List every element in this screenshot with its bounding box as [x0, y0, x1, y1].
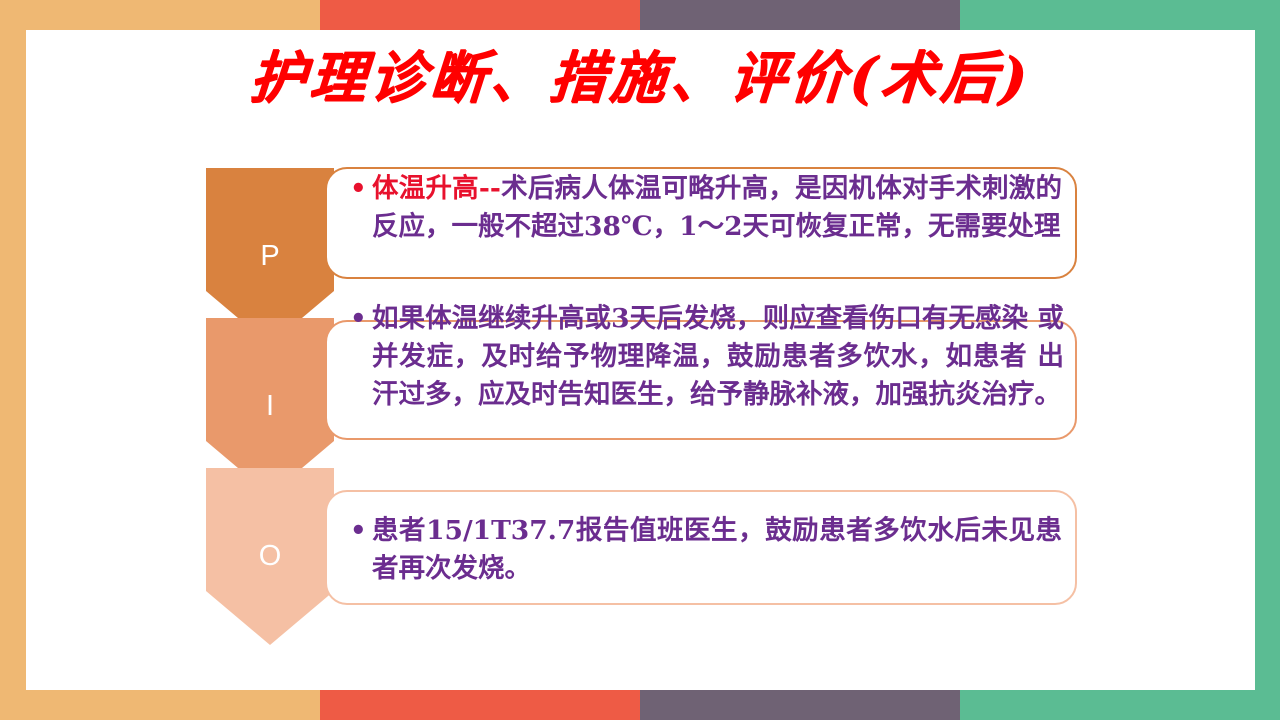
bullet-marker: •: [350, 300, 367, 338]
bullet-marker: •: [350, 512, 367, 550]
bullet-marker: •: [350, 170, 367, 208]
note-text-p: •体温升高--术后病人体温可略升高，是因机体对手术刺激的反应，一般不超过38℃，…: [372, 170, 1062, 246]
note-body-i: 如果体温继续升高或3天后发烧，则应查看伤口有无感染 或并发症，及时给予物理降温，…: [372, 303, 1064, 410]
note-highlight-p: 体温升高--: [372, 173, 501, 204]
note-body-o: 患者15/1T37.7报告值班医生，鼓励患者多饮水后未见患者再次发烧。: [372, 515, 1062, 584]
page-title: 护理诊断、措施、评价(术后): [0, 48, 1280, 110]
slide-canvas: 护理诊断、措施、评价(术后) P I O •体温升高--术后病人体温可略升高，是…: [0, 0, 1280, 720]
chevron-label-p: P: [205, 240, 335, 273]
chevron-label-o: O: [205, 540, 335, 573]
note-text-i: •如果体温继续升高或3天后发烧，则应查看伤口有无感染 或并发症，及时给予物理降温…: [372, 300, 1064, 414]
note-text-o: •患者15/1T37.7报告值班医生，鼓励患者多饮水后未见患者再次发烧。: [372, 512, 1062, 588]
chevron-label-i: I: [205, 390, 335, 423]
